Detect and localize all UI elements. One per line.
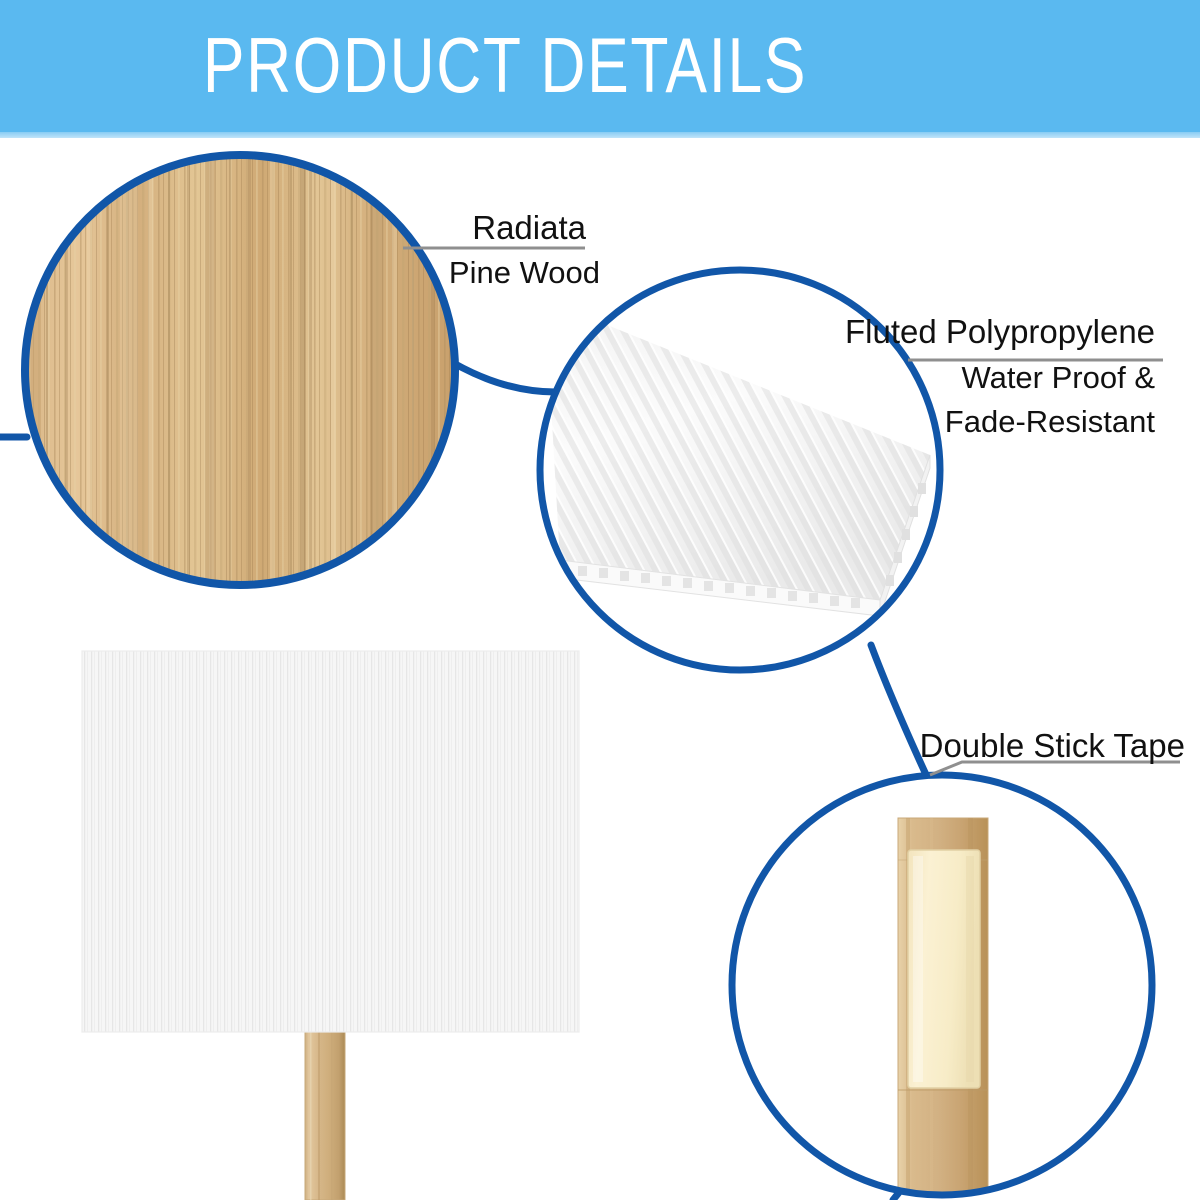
callout-circle-double-stick-tape[interactable] bbox=[732, 775, 1152, 1200]
infographic-canvas: PRODUCT DETAILS bbox=[0, 0, 1200, 1200]
callout-title-radiata: Radiata bbox=[430, 208, 600, 248]
white-fluted-panel bbox=[82, 651, 579, 1032]
callout-title-fluted-polypropylene: Fluted Polypropylene bbox=[845, 312, 1155, 352]
callout-label-fluted-polypropylene: Fluted Polypropylene Water Proof & Fade-… bbox=[845, 312, 1155, 440]
callout-subtitle-line1-fluted-polypropylene: Water Proof & bbox=[845, 352, 1155, 396]
callout-circle-radiata-pine-wood[interactable] bbox=[25, 155, 455, 585]
callout-subtitle-line2-fluted-polypropylene: Fade-Resistant bbox=[845, 396, 1155, 440]
callout-label-radiata: Radiata Pine Wood bbox=[430, 208, 600, 291]
callout-diagram bbox=[0, 0, 1200, 1200]
callout-title-double-stick-tape: Double Stick Tape bbox=[900, 726, 1185, 766]
callout-subtitle-radiata: Pine Wood bbox=[430, 248, 600, 291]
product-photo bbox=[82, 651, 579, 1200]
callout-label-double-stick-tape: Double Stick Tape bbox=[900, 726, 1185, 766]
